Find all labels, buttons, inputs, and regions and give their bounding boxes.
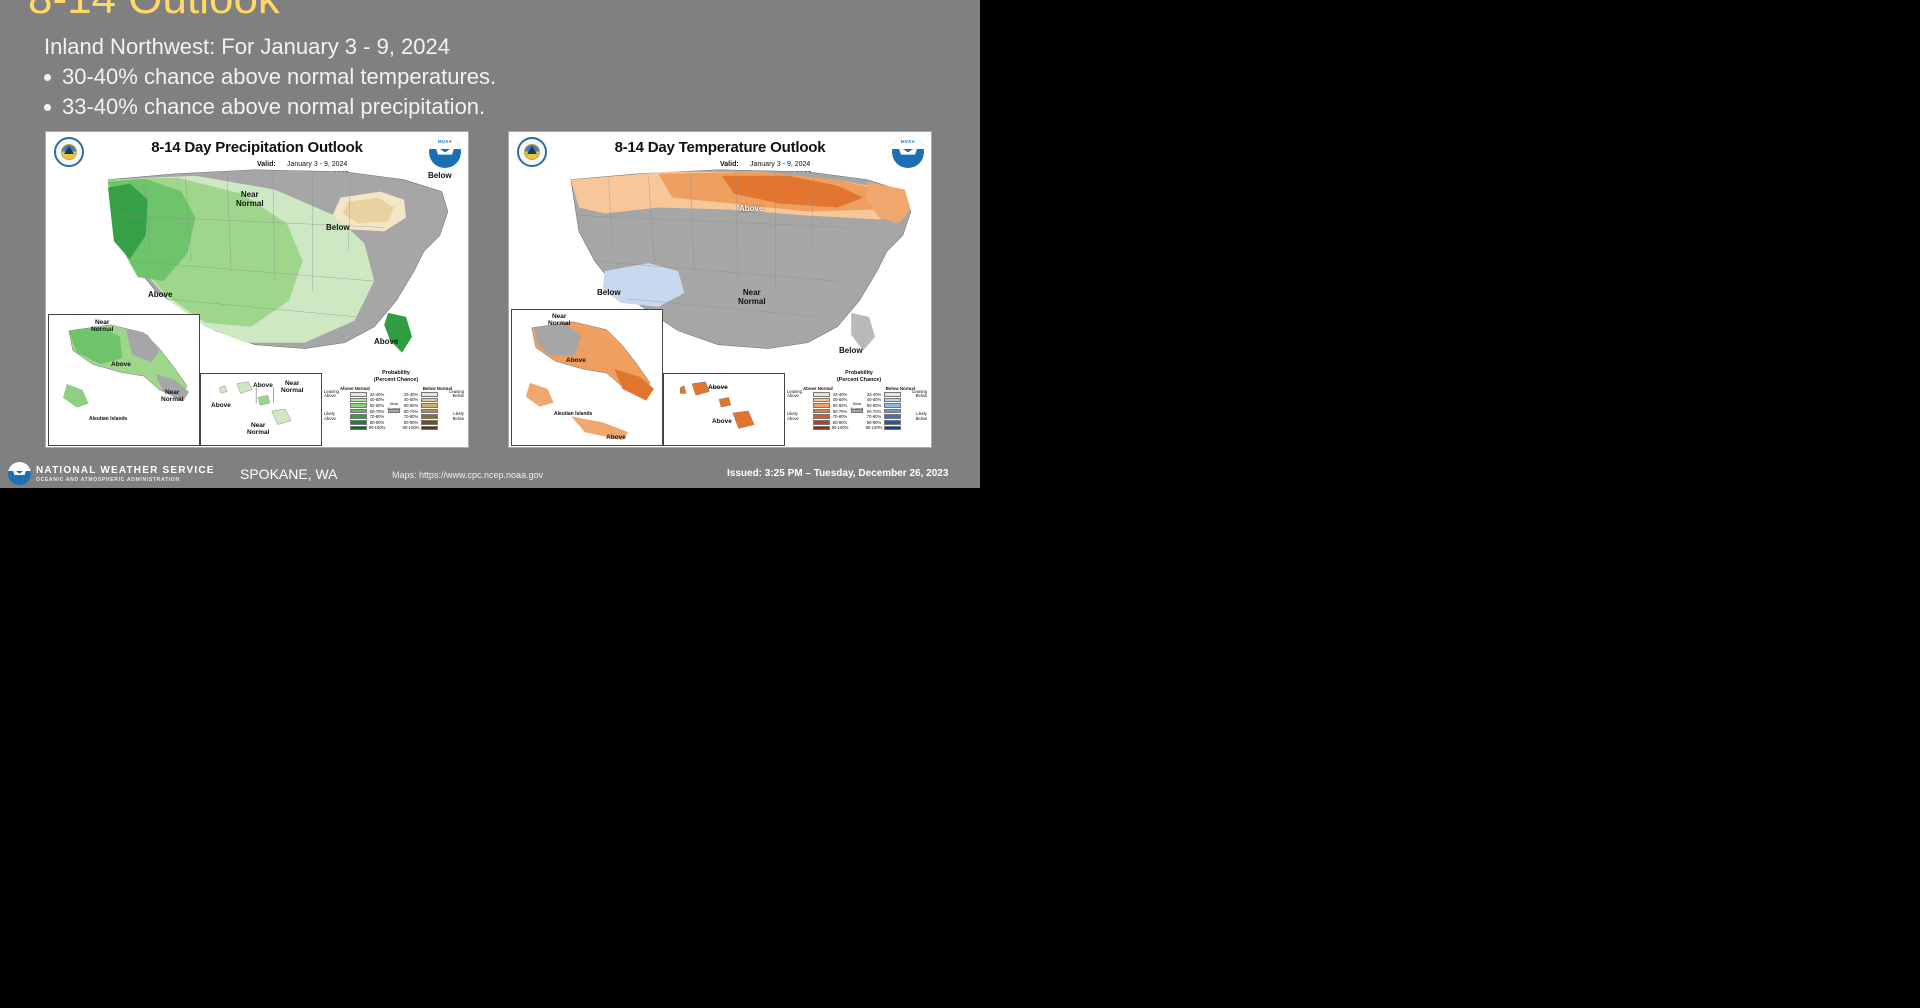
legend-swatch-below	[421, 420, 438, 425]
legend-percent: 60-70%	[864, 409, 884, 414]
hawaii-inset-temperature: Above Above	[663, 373, 785, 446]
map-label-above: Above	[374, 337, 398, 346]
legend-swatch-below	[421, 426, 438, 431]
probability-legend-precipitation: Probability (Percent Chance) Above Norma…	[324, 370, 468, 446]
probability-legend-temperature: Probability (Percent Chance) Above Norma…	[787, 370, 931, 446]
inset-label-aleutian-islands: Aleutian Islands	[554, 412, 592, 418]
legend-swatch-above	[813, 414, 830, 419]
legend-side-label-above: LeaningAbove	[787, 390, 813, 399]
bullet-text: 33-40% chance above normal precipitation…	[62, 94, 485, 120]
legend-side-label-above: LeaningAbove	[324, 390, 350, 399]
slide-footer: NATIONAL WEATHER SERVICE OCEANIC AND ATM…	[0, 458, 980, 488]
bullet-text: 30-40% chance above normal temperatures.	[62, 64, 496, 90]
legend-percent: 70-80%	[864, 414, 884, 419]
legend-swatch-below	[421, 398, 438, 403]
bullet-item: 30-40% chance above normal temperatures.	[44, 64, 496, 90]
inset-label-aleutian-islands: Aleutian Islands	[89, 417, 127, 423]
legend-swatch-below	[421, 414, 438, 419]
legend-swatch-above	[813, 409, 830, 414]
footer-maps-url[interactable]: Maps: https://www.cpc.ncep.noaa.gov	[392, 470, 543, 480]
legend-percent: 33-40%	[830, 392, 850, 397]
inset-label-near-normal: NearNormal	[91, 319, 113, 334]
inset-label-above: Above	[253, 382, 273, 389]
legend-side-label-below: LikelyBelow	[901, 412, 927, 421]
legend-percent: 33-40%	[864, 392, 884, 397]
legend-swatch-above	[813, 398, 830, 403]
legend-near-normal	[387, 409, 401, 414]
nws-logo-icon	[8, 462, 31, 485]
legend-percent: 80-90%	[401, 420, 421, 425]
legend-swatch-above	[350, 420, 367, 425]
legend-swatch-below	[421, 409, 438, 414]
map-label-near-normal: NearNormal	[236, 190, 264, 208]
legend-swatch-below	[884, 403, 901, 408]
legend-swatch-above	[350, 398, 367, 403]
legend-swatch-above	[350, 426, 367, 431]
footer-office: SPOKANE, WA	[240, 466, 338, 482]
legend-percent: 90-100%	[367, 425, 387, 430]
legend-percent: 90-100%	[864, 425, 884, 430]
bullet-dot-icon	[44, 104, 51, 111]
legend-percent: 60-70%	[401, 409, 421, 414]
inset-label-above: Above	[708, 384, 728, 391]
map-label-above: Above	[739, 204, 763, 213]
map-label-below: Below	[839, 346, 863, 355]
legend-percent: 40-50%	[401, 397, 421, 402]
legend-title-line2: (Percent Chance)	[324, 377, 468, 384]
legend-swatch-below	[884, 392, 901, 397]
hawaii-inset-precipitation: Above NearNormal Above NearNormal	[200, 373, 322, 446]
legend-title-line1: Probability	[324, 370, 468, 377]
legend-percent: 50-60%	[830, 403, 850, 408]
legend-percent: 90-100%	[830, 425, 850, 430]
legend-percent: 40-50%	[864, 397, 884, 402]
legend-swatch-below	[884, 414, 901, 419]
map-label-below: Below	[597, 288, 621, 297]
legend-swatch-above	[813, 392, 830, 397]
legend-title-line2: (Percent Chance)	[787, 377, 931, 384]
map-label-above: Above	[148, 290, 172, 299]
map-label-below: Below	[428, 171, 452, 180]
inset-label-above: Above	[712, 418, 732, 425]
legend-title-line1: Probability	[787, 370, 931, 377]
legend-percent: 33-40%	[401, 392, 421, 397]
legend-percent: 80-90%	[367, 420, 387, 425]
legend-swatch-above	[350, 414, 367, 419]
legend-swatch-below	[421, 392, 438, 397]
legend-percent: 70-80%	[401, 414, 421, 419]
legend-swatch-below	[884, 409, 901, 414]
legend-percent: 80-90%	[830, 420, 850, 425]
legend-row: 90-100%90-100%	[324, 425, 468, 431]
legend-row: 90-100%90-100%	[787, 425, 931, 431]
legend-percent: 80-90%	[864, 420, 884, 425]
inset-label-above: Above	[111, 361, 131, 368]
bullet-item: 33-40% chance above normal precipitation…	[44, 94, 485, 120]
slide-subtitle: Inland Northwest: For January 3 - 9, 202…	[44, 34, 450, 60]
alaska-inset-temperature: NearNormal Above Aleutian Islands Above	[511, 309, 663, 446]
footer-agency-subtitle: OCEANIC AND ATMOSPHERIC ADMINISTRATION	[36, 477, 180, 483]
legend-swatch-below	[421, 403, 438, 408]
legend-percent: 60-70%	[830, 409, 850, 414]
bullet-dot-icon	[44, 74, 51, 81]
legend-side-label-above: LikelyAbove	[787, 412, 813, 421]
inset-label-near-normal: NearNormal	[281, 380, 303, 395]
legend-swatch-below	[884, 398, 901, 403]
map-label-near-normal: NearNormal	[738, 288, 766, 306]
legend-percent: 70-80%	[830, 414, 850, 419]
legend-swatch-above	[813, 426, 830, 431]
legend-percent: 40-50%	[830, 397, 850, 402]
legend-swatch-above	[813, 420, 830, 425]
legend-rows: LeaningAbove33-40%33-40%LeaningBelow40-5…	[324, 392, 468, 431]
footer-agency-name: NATIONAL WEATHER SERVICE	[36, 465, 215, 476]
legend-side-label-above: LikelyAbove	[324, 412, 350, 421]
legend-side-label-below: LeaningBelow	[438, 390, 464, 399]
legend-swatch-below	[884, 426, 901, 431]
inset-label-near-normal: NearNormal	[247, 422, 269, 437]
legend-swatch-above	[813, 403, 830, 408]
legend-side-label-below: LikelyBelow	[438, 412, 464, 421]
legend-swatch-above	[350, 392, 367, 397]
legend-percent: 50-60%	[864, 403, 884, 408]
legend-swatch-above	[350, 403, 367, 408]
legend-near-normal	[850, 409, 864, 414]
legend-swatch-below	[884, 420, 901, 425]
legend-swatch-above	[350, 409, 367, 414]
inset-label-near-normal: NearNormal	[548, 313, 570, 328]
legend-percent: 50-60%	[367, 403, 387, 408]
map-label-below: Below	[326, 223, 350, 232]
temperature-outlook-map[interactable]: NOAA 8-14 Day Temperature Outlook Valid:…	[508, 131, 932, 448]
legend-percent: 40-50%	[367, 397, 387, 402]
page-title: 8-14 Outlook	[28, 0, 280, 24]
legend-percent: 70-80%	[367, 414, 387, 419]
inset-label-above: Above	[211, 402, 231, 409]
presentation-slide: 8-14 Outlook Inland Northwest: For Janua…	[0, 0, 980, 488]
inset-label-above: Above	[566, 357, 586, 364]
legend-percent: 90-100%	[401, 425, 421, 430]
alaska-inset-precipitation: NearNormal Above NearNormal Aleutian Isl…	[48, 314, 200, 446]
inset-label-above: Above	[606, 434, 626, 441]
legend-percent: 50-60%	[401, 403, 421, 408]
legend-percent: 33-40%	[367, 392, 387, 397]
inset-label-near-normal: NearNormal	[161, 389, 183, 404]
precipitation-outlook-map[interactable]: NOAA 8-14 Day Precipitation Outlook Vali…	[45, 131, 469, 448]
legend-side-label-below: LeaningBelow	[901, 390, 927, 399]
legend-rows: LeaningAbove33-40%33-40%LeaningBelow40-5…	[787, 392, 931, 431]
legend-percent: 60-70%	[367, 409, 387, 414]
footer-issued-timestamp: Issued: 3:25 PM – Tuesday, December 26, …	[727, 468, 948, 479]
